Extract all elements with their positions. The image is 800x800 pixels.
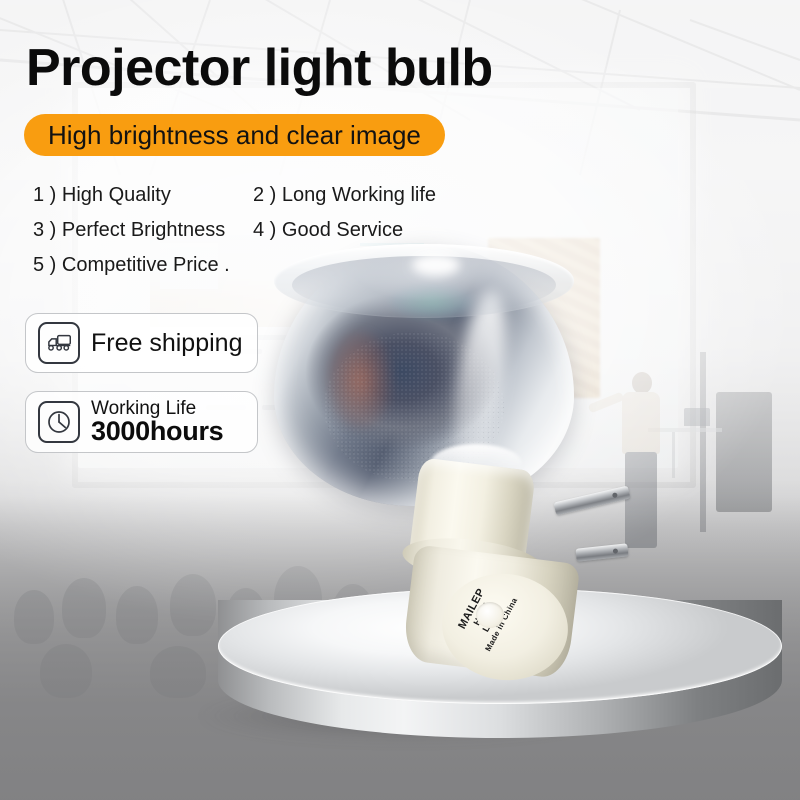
page-title: Projector light bulb	[26, 38, 493, 98]
product-poster: MAILEP HIGH LAMP Made in China Projector…	[0, 0, 800, 800]
tagline-banner: High brightness and clear image	[24, 114, 445, 156]
feature-item: 1 ) High Quality	[33, 178, 253, 213]
feature-item: 5 ) Competitive Price .	[33, 248, 253, 283]
feature-list: 1 ) High Quality 2 ) Long Working life 3…	[33, 178, 503, 283]
ceramic-base-vent-hole	[476, 602, 504, 628]
feature-item: 4 ) Good Service	[253, 213, 403, 248]
free-shipping-card: Free shipping	[25, 313, 258, 373]
clock-icon	[38, 401, 80, 443]
electrode-pin-lower	[575, 543, 628, 561]
working-life-card: Working Life 3000hours	[25, 391, 258, 453]
feature-item: 3 ) Perfect Brightness	[33, 213, 253, 248]
feature-row: 1 ) High Quality 2 ) Long Working life	[33, 178, 503, 213]
feature-row: 3 ) Perfect Brightness 4 ) Good Service	[33, 213, 503, 248]
feature-row: 5 ) Competitive Price .	[33, 248, 503, 283]
free-shipping-label: Free shipping	[91, 329, 242, 358]
working-life-text: Working Life 3000hours	[91, 399, 223, 446]
electrode-pin-upper	[554, 486, 631, 516]
projector-bulb-product-image: MAILEP HIGH LAMP Made in China	[262, 236, 622, 666]
working-life-value: 3000hours	[91, 418, 223, 446]
delivery-truck-icon	[38, 322, 80, 364]
tagline-text: High brightness and clear image	[48, 120, 421, 151]
feature-item: 2 ) Long Working life	[253, 178, 436, 213]
